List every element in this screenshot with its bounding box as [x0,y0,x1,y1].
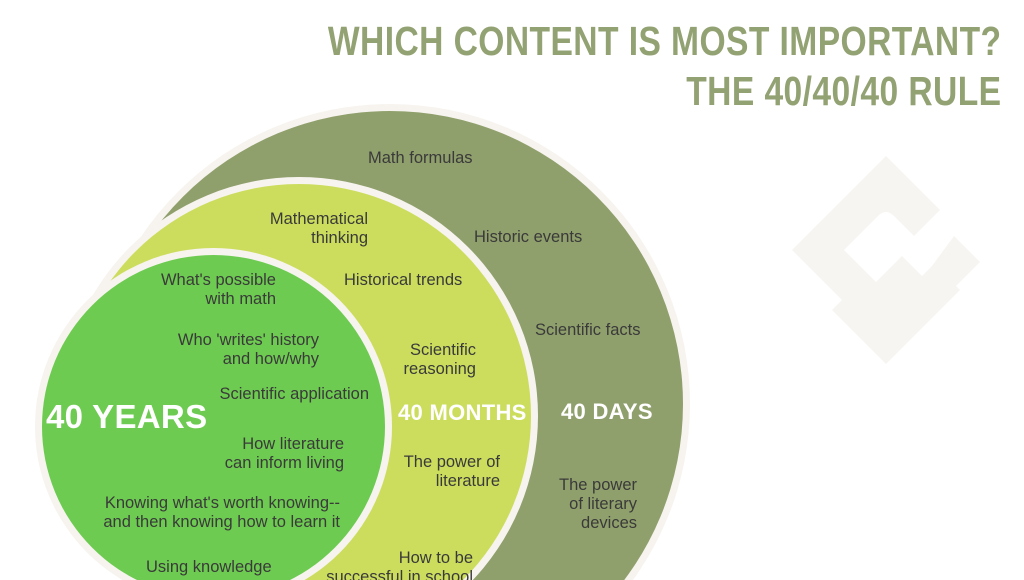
label-scientific-reasoning: Scientific reasoning [330,341,476,379]
label-how-literature-can-inform-living: How literature can inform living [125,435,344,473]
title-line-1: WHICH CONTENT IS MOST IMPORTANT? [328,16,1002,66]
label-power-of-literature: The power of literature [341,453,500,491]
infographic-canvas: WHICH CONTENT IS MOST IMPORTANT? THE 40/… [0,0,1024,580]
brand-logo-watermark-icon [780,152,992,367]
label-who-writes-history: Who 'writes' history and how/why [113,331,319,369]
label-using-knowledge: Using knowledge [146,558,336,577]
label-whats-possible-with-math: What's possible with math [104,271,276,309]
label-knowing-whats-worth-knowing: Knowing what's worth knowing-- and then … [44,494,340,532]
label-historic-events: Historic events [474,228,644,247]
label-mathematical-thinking: Mathematical thinking [198,210,368,248]
label-math-formulas: Math formulas [368,149,528,168]
ring-title-40-years: 40 YEARS [46,398,207,436]
ring-title-40-months: 40 MONTHS [398,400,527,426]
ring-title-40-days: 40 DAYS [561,399,653,425]
title-line-2: THE 40/40/40 RULE [328,66,1002,116]
label-power-of-literary-devices: The power of literary devices [477,476,637,533]
page-title: WHICH CONTENT IS MOST IMPORTANT? THE 40/… [180,16,1002,116]
label-historical-trends: Historical trends [344,271,524,290]
label-scientific-facts: Scientific facts [535,321,710,340]
